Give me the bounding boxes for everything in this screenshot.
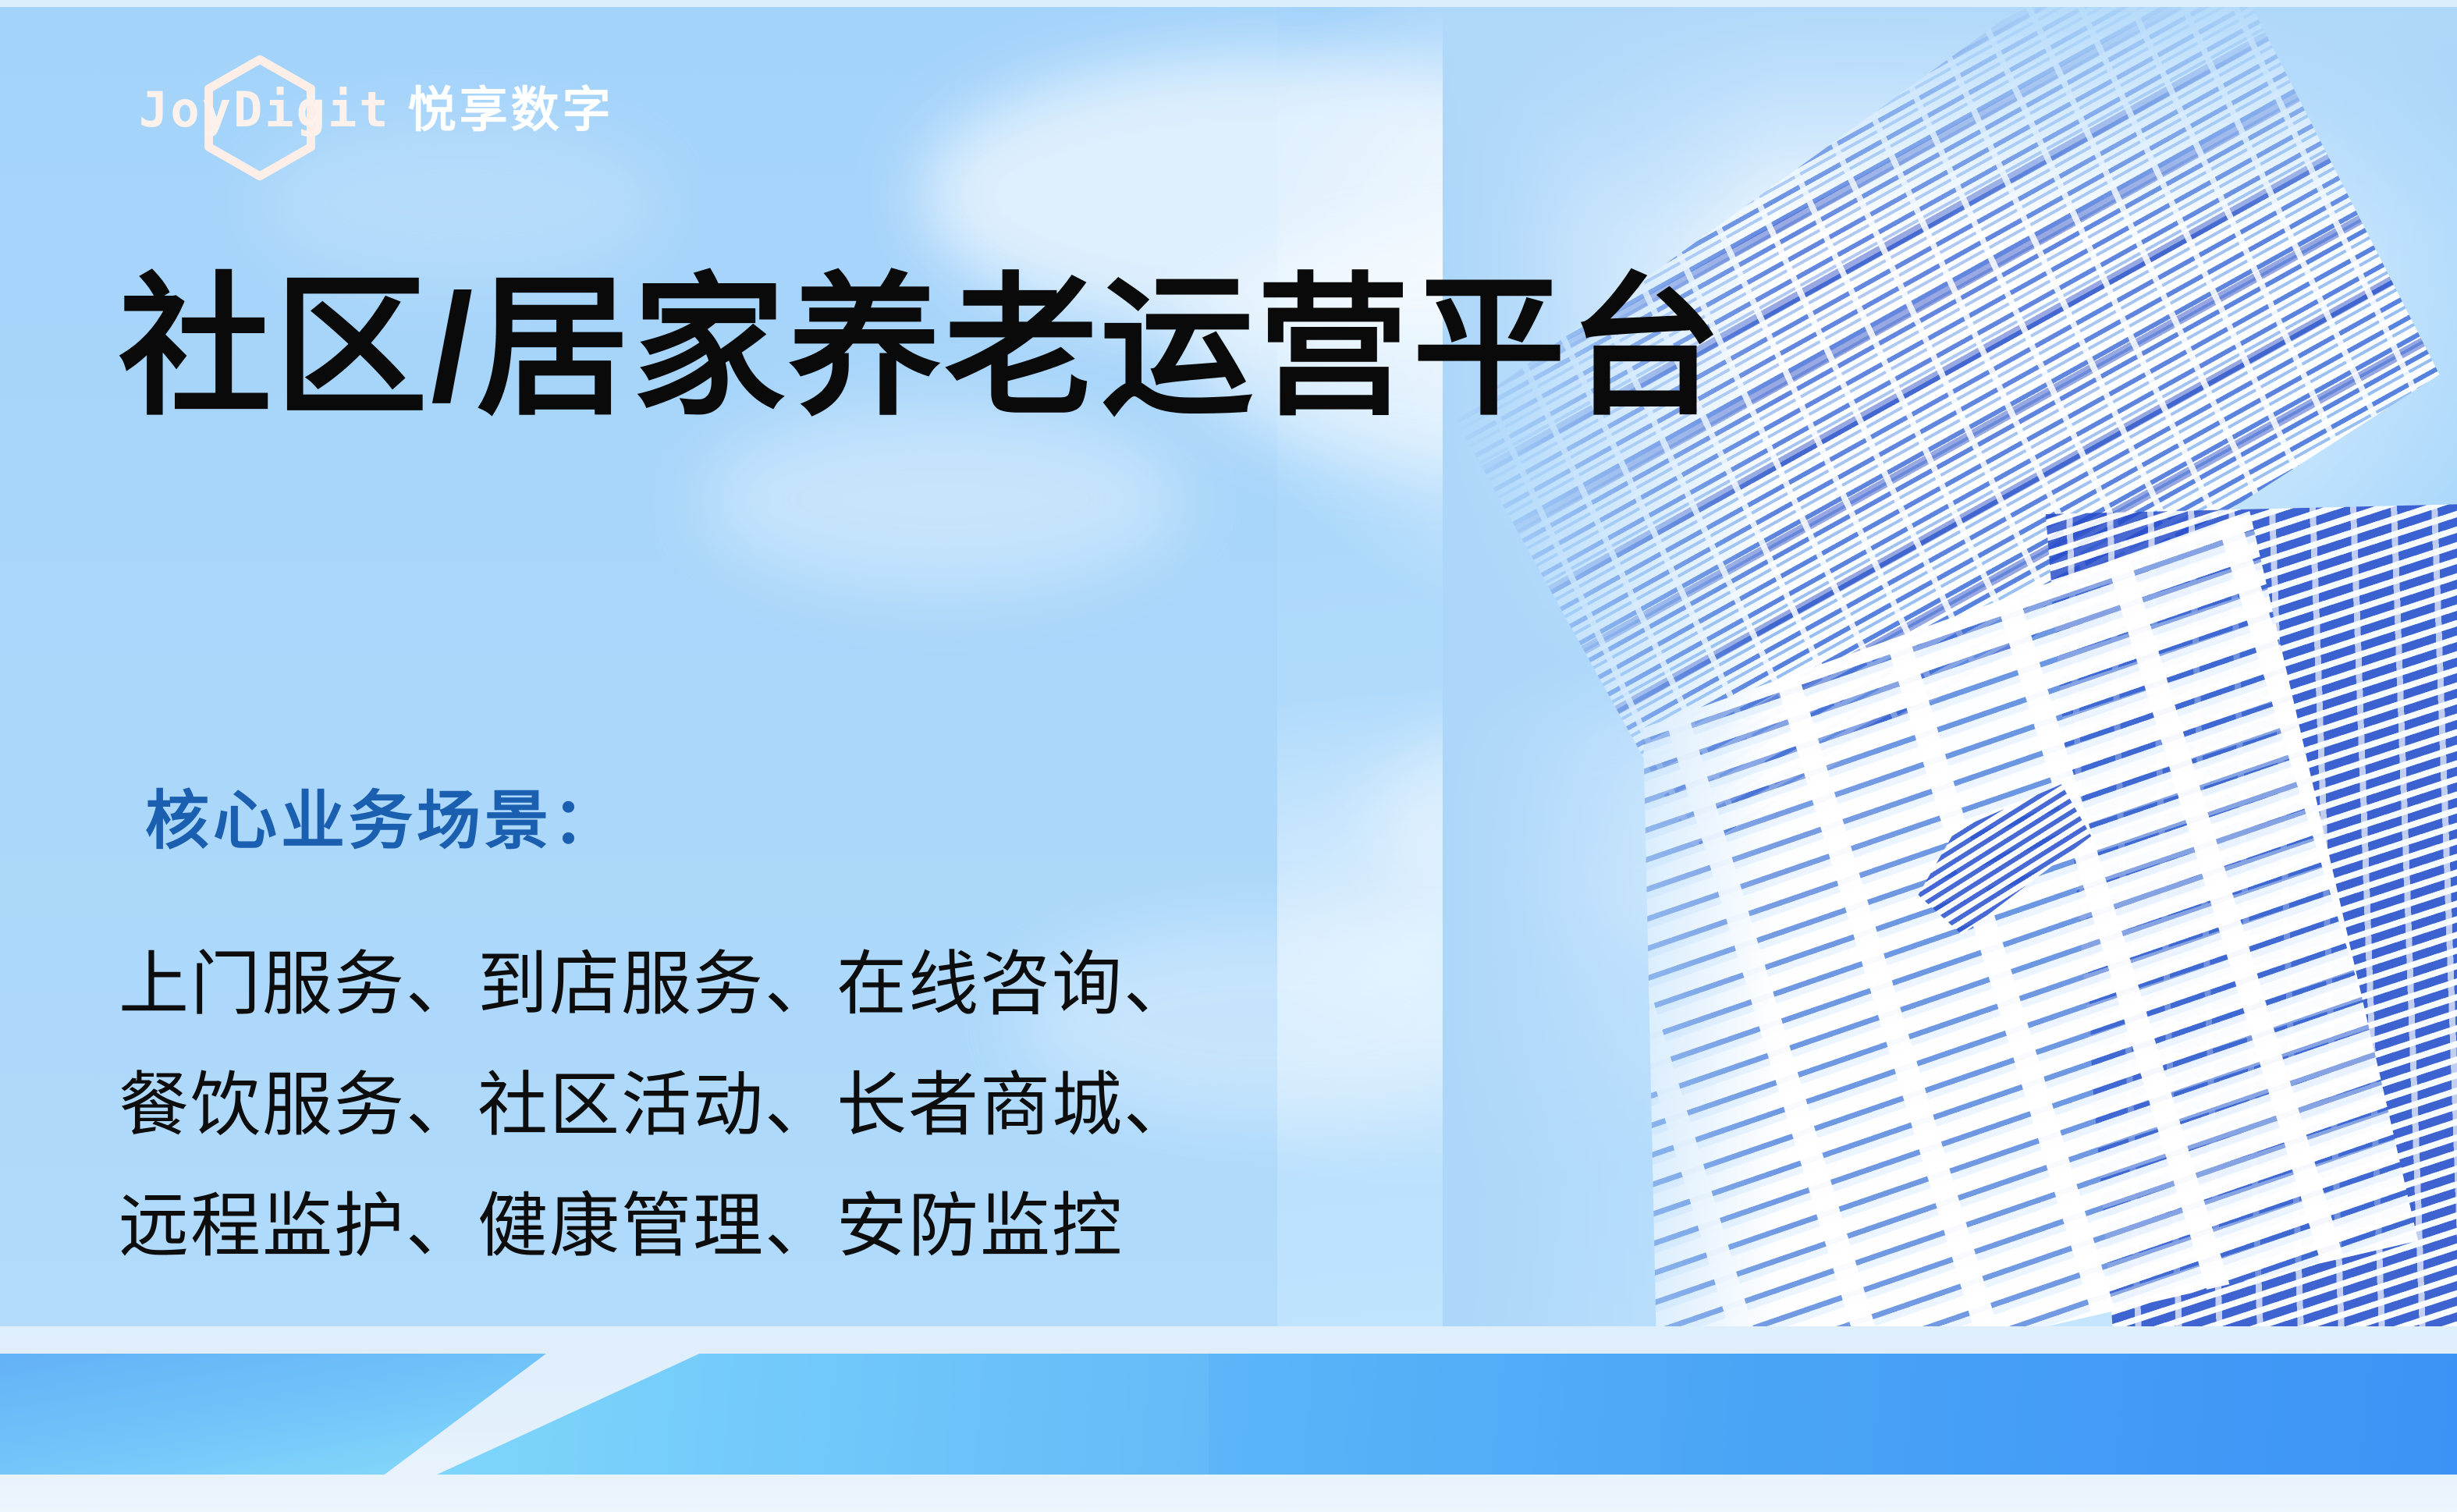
section-heading-core-scenarios: 核心业务场景： [145, 768, 620, 861]
cloud-shape [702, 406, 1186, 593]
brand-logo[interactable]: JoyDigit 悦享数字 [139, 34, 669, 190]
footer-decoration [0, 1326, 2457, 1512]
skyscraper-photo [1443, 0, 2457, 1397]
brand-logo-text: JoyDigit 悦享数字 [139, 70, 614, 140]
slide-canvas: JoyDigit 悦享数字 社区/居家养老运营平台 核心业务场景： 上门服务、到… [0, 0, 2457, 1512]
footer-band-right [1209, 1354, 2457, 1475]
brand-name-cn: 悦享数字 [408, 70, 614, 140]
scenario-list: 上门服务、到店服务、在线咨询、 餐饮服务、社区活动、长者商城、 远程监护、健康管… [119, 925, 1195, 1287]
scenario-line-3: 远程监护、健康管理、安防监控 [119, 1166, 1195, 1287]
scenario-line-2: 餐饮服务、社区活动、长者商城、 [119, 1045, 1195, 1166]
page-title: 社区/居家养老运营平台 [119, 265, 1724, 431]
top-edge-strip [0, 0, 2457, 7]
brand-wordmark: JoyDigit [139, 81, 391, 138]
scenario-line-1: 上门服务、到店服务、在线咨询、 [119, 925, 1195, 1045]
